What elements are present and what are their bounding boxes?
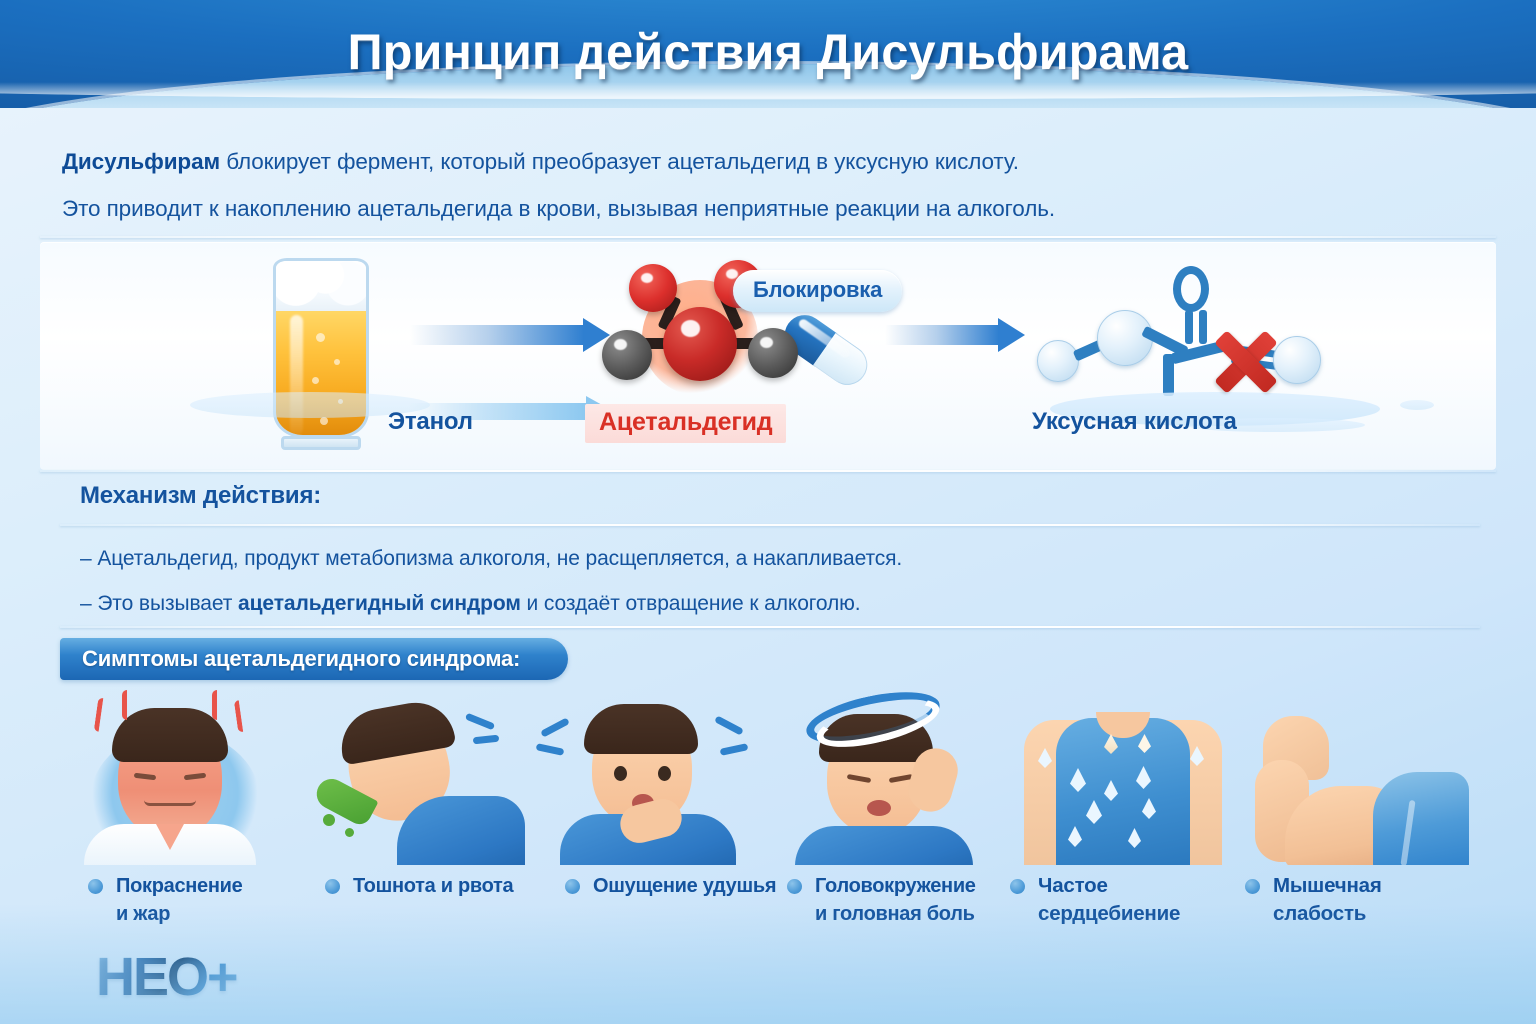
divider-top [40,236,1496,238]
bullet-dot-icon [787,879,802,894]
page-header: Принцип действия Дисульфирама [0,0,1536,108]
mechanism-item-1-text: – Ацетальдегид, продукт метабопизма алко… [80,547,902,570]
intro-drug-name: Дисульфирам [62,149,220,174]
bullet-dot-icon [325,879,340,894]
symptom-label-4-line2: и головная боль [815,903,975,925]
arrow-to-acetic-acid [885,318,1025,352]
symptoms-banner-label: Симптомы ацетальдегидного синдрома: [60,638,568,680]
page-title: Принцип действия Дисульфирама [23,0,1513,104]
flushed-face-icon [60,690,290,865]
symptom-label-2: Тошнота и рвота [325,872,565,900]
symptom-labels: Покраснение и жар Тошнота и рвота Ошущен… [60,872,1490,942]
mechanism-item-2-suffix: и создаёт отвращение к алкоголю. [521,592,861,615]
symptom-label-5-line2: сердцебиение [1038,902,1180,925]
symptom-label-2-line1: Тошнота и рвота [353,875,513,897]
arrow-ethanol-to-acetaldehyde [410,318,610,352]
symptom-label-1-line2: и жар [116,903,170,925]
oxygen-ring-icon [1173,266,1209,312]
symptom-label-6: Мышечная слабость [1245,872,1470,928]
vomiting-icon [297,690,527,865]
symptom-label-6-line1: Мышечная [1273,874,1382,897]
acetic-acid-structure-icon [1035,262,1335,407]
intro-line-2: Это приводит к накоплению ацетальдегида … [62,185,1482,232]
symptom-illustration-strip [60,690,1480,880]
label-acetaldehyde: Ацетальдегид [585,404,786,443]
flexed-arm-icon [1245,690,1475,865]
label-ethanol: Этанол [388,408,473,436]
symptom-card-2 [297,690,527,880]
symptom-card-1 [60,690,290,880]
mechanism-list: – Ацетальдегид, продукт метабопизма алко… [80,536,1420,626]
brand-logo: НЕО+ [96,948,237,1006]
mechanism-item-1: – Ацетальдегид, продукт метабопизма алко… [80,536,1420,581]
symptom-label-3-line1: Ошущение удушья [593,875,776,897]
mechanism-item-2-prefix: – Это вызывает [80,592,238,615]
bullet-dot-icon [1010,879,1025,894]
beer-glass-icon [255,250,387,450]
intro-text-block: Дисульфирам блокирует фермент, который п… [62,138,1482,232]
bullet-dot-icon [565,879,580,894]
dizziness-icon [771,690,1001,865]
symptom-label-4-line1: Головокружение [815,875,976,897]
symptom-label-5-line1: Частое [1038,874,1108,897]
symptom-card-6 [1245,690,1475,880]
divider-mechanism-2 [60,524,1480,526]
sweating-torso-icon [1008,690,1238,865]
symptom-label-4: Головокружение и головная боль [787,872,1037,928]
label-acetic-acid: Уксусная кислота [1032,408,1237,436]
symptom-label-1-line1: Покраснение [116,875,242,897]
choking-icon [534,690,764,865]
symptoms-banner: Симптомы ацетальдегидного синдрома: [60,638,568,680]
symptom-label-5: Частое сердцебиение [1010,872,1235,928]
intro-line-1: Дисульфирам блокирует фермент, который п… [62,138,1482,185]
symptom-card-3 [534,690,764,880]
red-cross-icon [1205,320,1287,402]
bullet-dot-icon [1245,879,1260,894]
symptom-label-3: Ошущение удушья [565,872,815,900]
divider-symptoms [60,626,1480,628]
mechanism-title: Механизм действия: [80,482,321,510]
divider-mechanism [40,470,1496,472]
blocking-badge: Блокировка [733,270,902,312]
symptom-card-4 [771,690,1001,880]
mechanism-item-2-bold: ацетальдегидный синдром [238,592,521,615]
liquid-puddle-decoration-3 [1400,400,1434,410]
bullet-dot-icon [88,879,103,894]
mechanism-item-2: – Это вызывает ацетальдегидный синдром и… [80,581,1420,626]
symptom-label-6-line2: слабость [1273,902,1366,925]
symptom-card-5 [1008,690,1238,880]
symptom-label-1: Покраснение и жар [88,872,313,928]
intro-line-1-rest: блокирует фермент, который преобразует а… [220,149,1019,174]
